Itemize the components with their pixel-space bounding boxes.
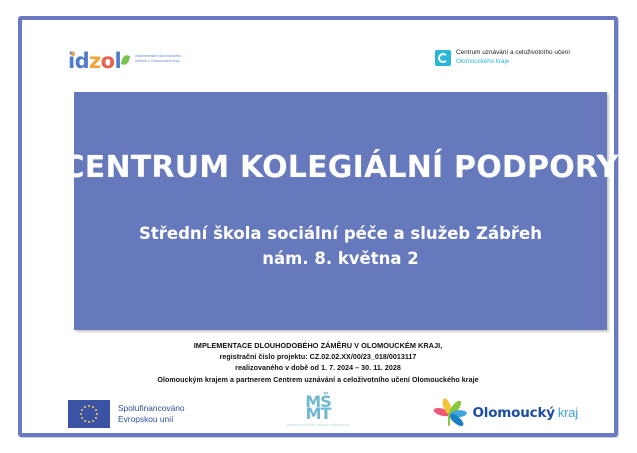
idzol-letter-o: o bbox=[101, 49, 115, 73]
cucu-logo: Centrum uznávání a celoživotního učení O… bbox=[435, 49, 570, 66]
olomoucky-kraj-logo: Olomouckýkraj bbox=[435, 398, 578, 428]
eu-flag-icon bbox=[68, 400, 110, 428]
msmt-caption: Ministerstvo školství, mládeže a tělovýc… bbox=[287, 423, 350, 427]
cucu-text: Centrum uznávání a celoživotního učení O… bbox=[456, 49, 570, 66]
idzol-letter-z: z bbox=[89, 49, 101, 73]
eu-star-icon bbox=[88, 421, 90, 423]
idzol-tagline: Implementace dlouhodobého záměru v Olomo… bbox=[135, 54, 191, 63]
page-title: CENTRUM KOLEGIÁLNÍ PODPORY bbox=[63, 150, 619, 185]
main-blue-panel: CENTRUM KOLEGIÁLNÍ PODPORY Střední škola… bbox=[74, 92, 607, 330]
subtitle-line-1: Střední škola sociální péče a služeb Záb… bbox=[139, 221, 542, 246]
pinwheel-stem bbox=[448, 413, 450, 426]
eu-star-icon bbox=[84, 420, 86, 422]
olomoucky-kraj-name: Olomoucký bbox=[473, 405, 555, 421]
eu-star-icon bbox=[92, 420, 94, 422]
idzol-letter-d: d bbox=[75, 49, 89, 73]
project-info-line: IMPLEMENTACE DLOUHODOBÉHO ZÁMĚRU V OLOMO… bbox=[48, 340, 588, 352]
eu-star-icon bbox=[92, 406, 94, 408]
subtitle-line-2: nám. 8. května 2 bbox=[139, 246, 542, 271]
cucu-emblem-icon bbox=[435, 50, 451, 66]
idzol-dot-icon bbox=[71, 52, 75, 56]
cucu-line-1: Centrum uznávání a celoživotního učení bbox=[456, 49, 570, 58]
eu-star-icon bbox=[96, 413, 98, 415]
poster-subtitle: Střední škola sociální péče a služeb Záb… bbox=[139, 221, 542, 271]
header-logo-strip: idzol Implementace dlouhodobého záměru v… bbox=[48, 46, 588, 86]
idzol-wordmark: idzol bbox=[68, 50, 129, 72]
project-info-block: IMPLEMENTACE DLOUHODOBÉHO ZÁMĚRU V OLOMO… bbox=[48, 340, 588, 386]
eu-star-icon bbox=[81, 417, 83, 419]
idzol-logo: idzol Implementace dlouhodobého záměru v… bbox=[68, 50, 191, 72]
eu-star-icon bbox=[81, 409, 83, 411]
project-info-line: registrační číslo projektu: CZ.02.02.XX/… bbox=[48, 352, 588, 364]
cucu-line-2: Olomouckého kraje bbox=[456, 58, 570, 67]
msmt-mark-line-2: MT bbox=[287, 408, 350, 420]
footer-logo-strip: Spolufinancováno Evropskou unií MŠ MT Mi… bbox=[48, 396, 588, 444]
eu-funding-logo: Spolufinancováno Evropskou unií bbox=[68, 400, 185, 428]
eu-star-icon bbox=[88, 405, 90, 407]
msmt-mark-icon: MŠ MT bbox=[287, 396, 350, 420]
olomoucky-kraj-text: Olomouckýkraj bbox=[473, 406, 578, 420]
eu-caption: Spolufinancováno Evropskou unií bbox=[118, 403, 185, 425]
project-info-line: Olomouckým krajem a partnerem Centrem uz… bbox=[48, 375, 588, 387]
eu-caption-line-1: Spolufinancováno bbox=[118, 403, 185, 414]
idzol-letter-l: l bbox=[115, 49, 122, 73]
project-info-line: realizovaného v době od 1. 7. 2024 – 30.… bbox=[48, 363, 588, 375]
poster-frame: idzol Implementace dlouhodobého záměru v… bbox=[18, 16, 618, 437]
leaf-icon bbox=[121, 54, 130, 65]
eu-star-icon bbox=[80, 413, 82, 415]
olomoucky-kraj-suffix: kraj bbox=[558, 405, 578, 420]
olomoucky-kraj-pinwheel-icon bbox=[435, 398, 469, 428]
msmt-logo: MŠ MT Ministerstvo školství, mládeže a t… bbox=[287, 396, 350, 427]
eu-star-icon bbox=[84, 406, 86, 408]
eu-star-icon bbox=[95, 417, 97, 419]
eu-caption-line-2: Evropskou unií bbox=[118, 414, 185, 425]
eu-star-icon bbox=[95, 409, 97, 411]
